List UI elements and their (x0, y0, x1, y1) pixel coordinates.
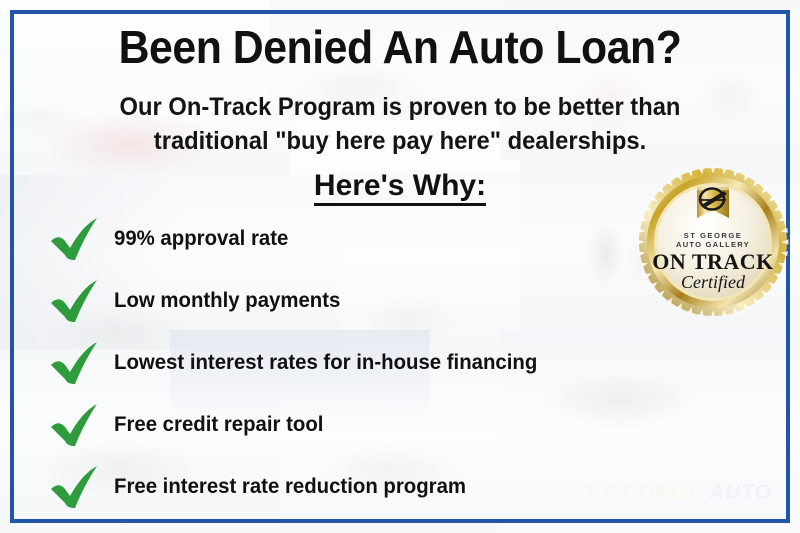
list-item-label: Free credit repair tool (114, 412, 323, 438)
benefits-list: 99% approval rate Low monthly payments L… (48, 208, 648, 518)
green-check-icon (48, 400, 102, 450)
green-check-icon (48, 276, 102, 326)
subtitle-line-1: Our On-Track Program is proven to be bet… (120, 93, 681, 121)
green-check-icon (48, 462, 102, 512)
list-item-label: 99% approval rate (114, 226, 288, 252)
list-item-label: Low monthly payments (114, 288, 340, 314)
auto-loan-ad-banner: ST GEORGE AUTO Been Denied An Auto Loan?… (0, 0, 800, 533)
ad-content: Been Denied An Auto Loan? Our On-Track P… (0, 0, 800, 533)
list-item-label: Lowest interest rates for in-house finan… (114, 350, 537, 376)
green-check-icon (48, 338, 102, 388)
subtitle: Our On-Track Program is proven to be bet… (77, 90, 723, 158)
section-heading-text: Here's Why: (314, 169, 486, 206)
subtitle-line-2: traditional "buy here pay here" dealersh… (77, 124, 723, 158)
list-item: Low monthly payments (48, 270, 648, 332)
green-check-icon (48, 214, 102, 264)
list-item: 99% approval rate (48, 208, 648, 270)
headline: Been Denied An Auto Loan? (28, 21, 772, 73)
list-item: Free interest rate reduction program (48, 456, 648, 518)
list-item-label: Free interest rate reduction program (114, 474, 466, 500)
certified-seal-icon: ST GEORGE AUTO GALLERY ON TRACK Certifie… (637, 166, 789, 318)
list-item: Lowest interest rates for in-house finan… (48, 332, 648, 394)
list-item: Free credit repair tool (48, 394, 648, 456)
